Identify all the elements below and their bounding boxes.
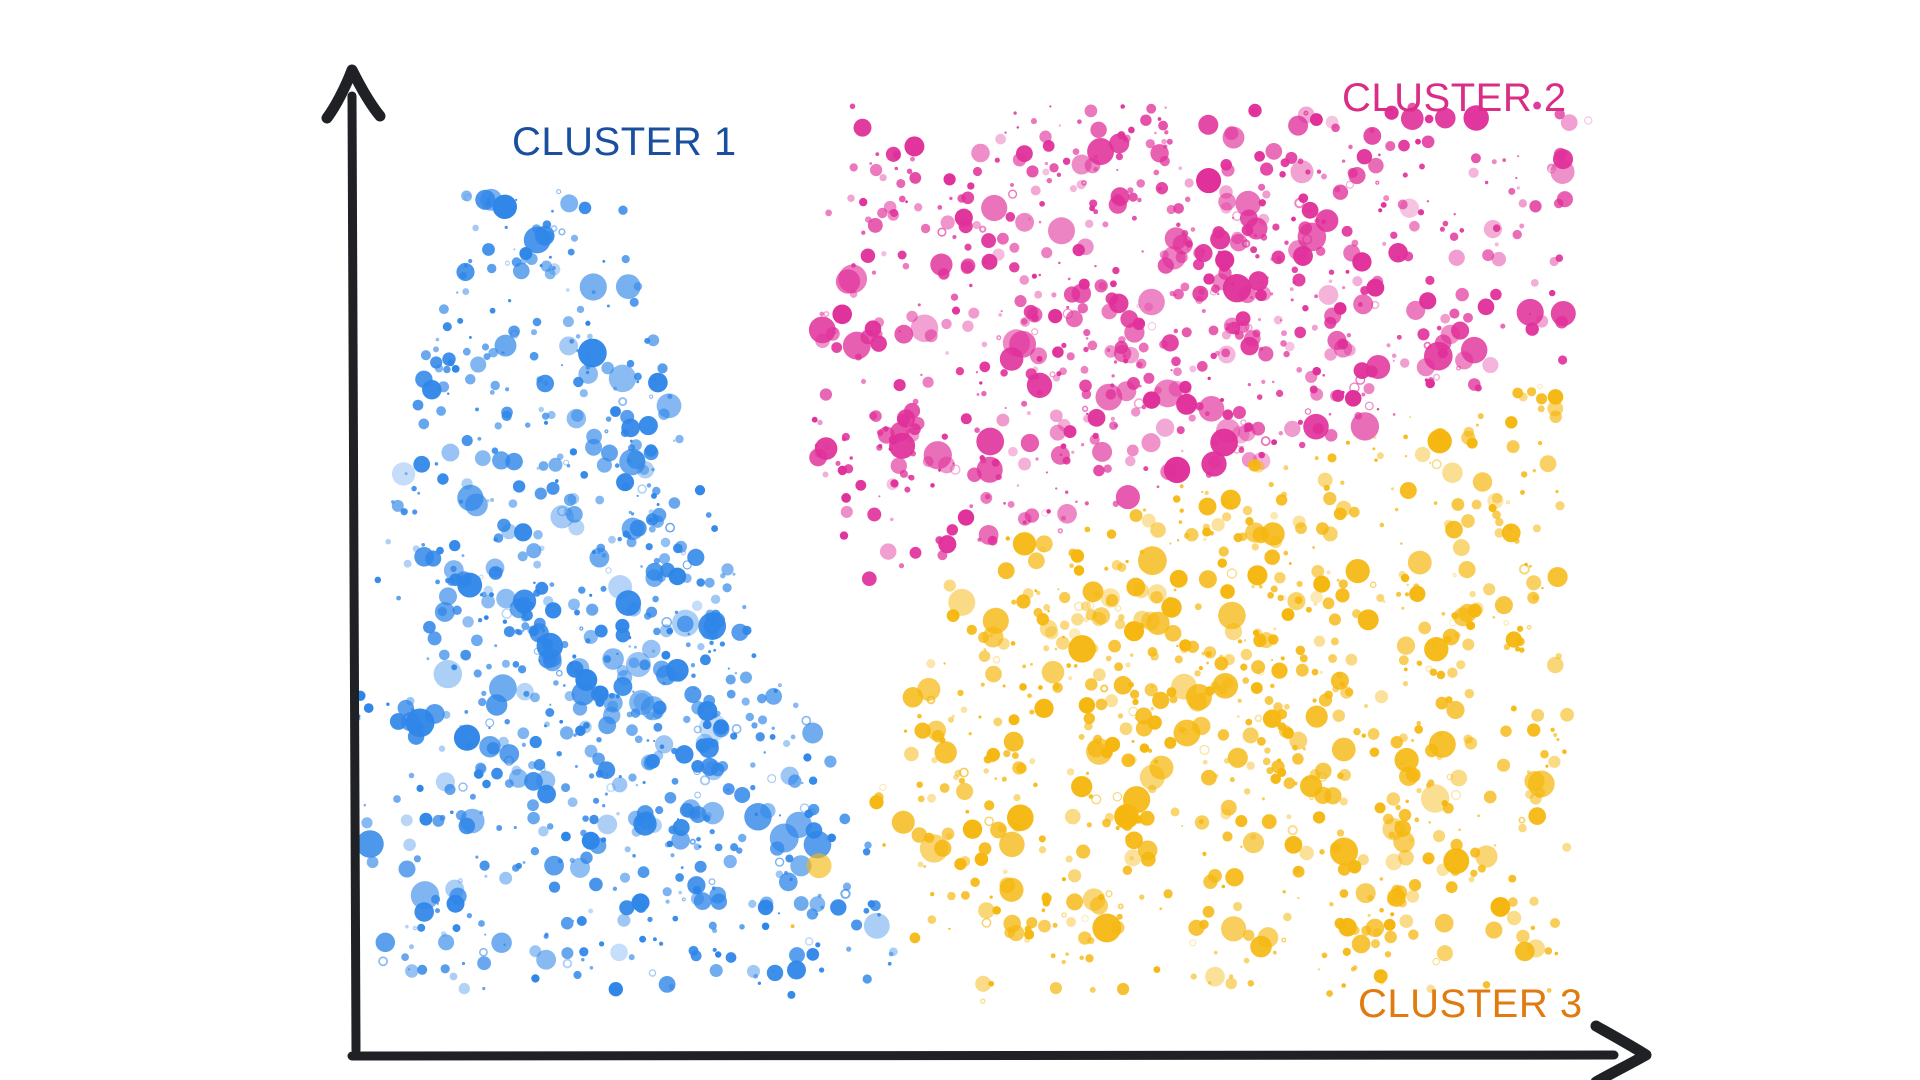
data-point (806, 948, 819, 961)
data-point (847, 194, 854, 201)
data-point (738, 834, 746, 842)
data-point (564, 494, 576, 506)
data-point (969, 732, 972, 735)
data-point (1124, 355, 1126, 357)
data-point (1361, 393, 1365, 397)
data-point (923, 865, 926, 868)
data-point (1470, 848, 1480, 858)
data-point (1375, 802, 1386, 813)
data-point (1547, 657, 1563, 673)
data-point (1179, 520, 1183, 524)
data-point (1250, 936, 1272, 958)
data-point (1219, 546, 1229, 556)
data-point (1399, 655, 1409, 665)
data-point (1214, 951, 1218, 955)
data-point (712, 886, 716, 890)
data-point (1108, 640, 1121, 653)
data-point-artifact (982, 919, 990, 927)
cluster-2-label: CLUSTER 2 (1342, 78, 1567, 118)
data-point (1515, 177, 1517, 179)
data-point-artifact (1365, 402, 1373, 410)
data-point (1240, 846, 1242, 848)
data-point (728, 668, 730, 670)
data-point (1280, 340, 1287, 347)
data-point (538, 407, 544, 413)
data-point (479, 811, 483, 815)
data-point (1001, 310, 1003, 312)
data-point (969, 504, 973, 508)
data-point (1391, 885, 1402, 896)
data-point (696, 837, 701, 842)
data-point (478, 920, 485, 927)
data-point (809, 776, 817, 784)
data-point (568, 249, 575, 256)
data-point (530, 736, 542, 748)
data-point (522, 743, 526, 747)
data-point (1023, 520, 1027, 524)
data-point (1381, 202, 1387, 208)
data-point (1035, 457, 1038, 460)
data-point (543, 380, 548, 385)
data-point (1109, 421, 1118, 430)
data-point (916, 781, 922, 787)
data-point (1195, 815, 1209, 829)
data-point (412, 509, 417, 514)
data-point (549, 881, 560, 892)
data-point (756, 732, 765, 741)
data-point (1217, 293, 1220, 296)
data-point (1209, 531, 1214, 536)
data-point (1023, 588, 1034, 599)
data-point-artifact (650, 395, 653, 398)
data-point (1519, 199, 1527, 207)
data-point (597, 458, 612, 473)
data-point (417, 492, 420, 495)
data-point (967, 182, 974, 189)
data-point (1238, 699, 1242, 703)
data-point-artifact (1119, 904, 1123, 908)
data-point (1409, 416, 1411, 418)
data-point (1093, 167, 1098, 172)
data-point (985, 666, 1002, 683)
data-point-artifact (1058, 529, 1062, 533)
x-axis-line (352, 1055, 1614, 1057)
data-point (1331, 638, 1339, 646)
data-point-artifact (557, 670, 562, 675)
data-point (1046, 509, 1051, 514)
data-point (1136, 179, 1145, 188)
data-point (539, 628, 545, 634)
data-point (1009, 714, 1020, 725)
data-point (1079, 956, 1084, 961)
data-point (401, 953, 409, 961)
data-point-artifact (802, 717, 810, 725)
data-point-artifact (1519, 818, 1524, 823)
data-point (608, 536, 616, 544)
data-point (470, 794, 476, 800)
data-point (861, 248, 876, 263)
data-point (1265, 696, 1274, 705)
data-point (1396, 256, 1400, 260)
data-point (454, 725, 480, 751)
data-point (918, 795, 925, 802)
data-point (1461, 337, 1487, 363)
data-point (1089, 205, 1095, 211)
data-point (416, 785, 423, 792)
data-point-artifact (649, 970, 655, 976)
data-point-artifact (768, 775, 776, 783)
data-point (1343, 948, 1351, 956)
data-point (940, 737, 946, 743)
data-point (1027, 411, 1031, 415)
data-point (615, 463, 620, 468)
data-point (859, 198, 867, 206)
data-point (1257, 737, 1266, 746)
data-point (1562, 843, 1571, 852)
data-point (1011, 600, 1016, 605)
data-point (1237, 715, 1240, 718)
data-point (613, 887, 617, 891)
data-point (1236, 311, 1251, 326)
data-point (1170, 369, 1172, 371)
data-point (734, 787, 750, 803)
data-point (654, 558, 660, 564)
data-point (630, 440, 633, 443)
data-point (622, 255, 630, 263)
data-point (1469, 877, 1475, 883)
data-point (875, 152, 879, 156)
data-point (1222, 885, 1226, 889)
data-point (1049, 105, 1051, 107)
data-point (1290, 287, 1294, 291)
data-point (1168, 610, 1175, 617)
data-point (561, 947, 573, 959)
data-point (982, 342, 988, 348)
data-point (1429, 731, 1456, 758)
data-point (1057, 173, 1061, 177)
data-point (1487, 493, 1503, 509)
data-point (940, 783, 950, 793)
data-point (872, 270, 876, 274)
data-point (1517, 186, 1520, 189)
data-point (1093, 465, 1104, 476)
data-point (1259, 585, 1263, 589)
data-point (930, 483, 935, 488)
data-point (639, 416, 658, 435)
data-point (1167, 205, 1176, 214)
data-point (1085, 501, 1089, 505)
data-point (1039, 846, 1046, 853)
data-point (462, 435, 473, 446)
data-point (1022, 665, 1026, 669)
data-point (441, 964, 450, 973)
data-point (1206, 662, 1209, 665)
data-point (760, 896, 774, 910)
data-point (1032, 274, 1037, 279)
data-point (1451, 322, 1469, 340)
data-point (1508, 188, 1515, 195)
data-point (618, 206, 627, 215)
data-point (740, 671, 752, 683)
data-point (481, 595, 495, 609)
data-point (1419, 164, 1425, 170)
data-point (713, 649, 716, 652)
data-point (545, 708, 554, 717)
data-point (711, 525, 718, 532)
data-point (1284, 704, 1290, 710)
data-point (1139, 894, 1144, 899)
data-point (596, 737, 601, 742)
data-point (647, 917, 652, 922)
data-point (713, 719, 728, 734)
data-point (993, 717, 1002, 726)
data-point (1271, 585, 1278, 592)
data-point (981, 391, 986, 396)
data-point (536, 467, 539, 470)
data-point (1160, 156, 1170, 166)
data-point (772, 727, 775, 730)
data-point (1555, 490, 1558, 493)
data-point (1478, 865, 1486, 873)
data-point (1306, 607, 1312, 613)
data-point (1529, 897, 1538, 906)
data-point (1348, 145, 1352, 149)
data-point (781, 767, 799, 785)
data-point (882, 843, 885, 846)
data-point (1059, 367, 1067, 375)
data-point (1090, 987, 1096, 993)
data-point (1476, 424, 1479, 427)
data-point (513, 661, 520, 668)
data-point-artifact (557, 190, 561, 194)
data-point (499, 872, 512, 885)
data-point (616, 473, 634, 491)
data-point (1202, 852, 1206, 856)
data-point (783, 740, 790, 747)
data-point (573, 377, 583, 387)
data-point (561, 917, 574, 930)
data-point (1061, 343, 1066, 348)
data-point (1173, 367, 1182, 376)
data-point (625, 846, 631, 852)
data-point (1262, 797, 1265, 800)
data-point (739, 924, 745, 930)
data-point (1009, 262, 1019, 272)
data-point (917, 714, 922, 719)
data-point (1282, 727, 1294, 739)
data-point (1003, 750, 1010, 757)
data-point (505, 453, 523, 471)
data-point (629, 657, 640, 668)
data-point (533, 318, 542, 327)
data-point (1156, 182, 1168, 194)
data-point (471, 634, 483, 646)
data-point (687, 549, 704, 566)
data-point (535, 487, 547, 499)
data-point (524, 227, 551, 254)
data-point (1263, 758, 1271, 766)
data-point (438, 607, 447, 616)
data-point (909, 475, 915, 481)
data-point (762, 923, 770, 931)
data-point (1219, 655, 1223, 659)
data-point (1312, 546, 1315, 549)
data-point (1182, 327, 1192, 337)
data-point (1102, 221, 1108, 227)
data-point (742, 626, 751, 635)
data-point (1527, 939, 1545, 957)
data-point (1138, 289, 1165, 316)
data-point (505, 226, 508, 229)
data-point (1296, 664, 1309, 677)
data-point (1199, 498, 1217, 516)
data-point (930, 253, 952, 275)
data-point-artifact (666, 523, 674, 531)
data-point (1314, 603, 1317, 606)
data-point (434, 660, 462, 688)
data-point (1346, 270, 1350, 274)
data-point (580, 389, 588, 397)
data-point (978, 902, 995, 919)
data-point (1223, 409, 1234, 420)
data-point (984, 800, 994, 810)
data-point (504, 626, 515, 637)
data-point-artifact (564, 960, 572, 968)
data-point (401, 814, 413, 826)
data-point (1409, 221, 1420, 232)
data-point (555, 479, 559, 483)
data-point (1159, 907, 1162, 910)
data-point (1461, 431, 1475, 445)
data-point (576, 334, 581, 339)
data-point (1500, 725, 1511, 736)
data-point (1492, 159, 1497, 164)
data-point (1266, 767, 1273, 774)
data-point (1372, 447, 1375, 450)
data-point (982, 254, 998, 270)
data-point (475, 407, 479, 411)
data-point (1490, 289, 1502, 301)
data-point (1267, 592, 1274, 599)
data-point (1408, 551, 1432, 575)
data-point (627, 360, 635, 368)
data-point (732, 573, 735, 576)
data-point (533, 561, 541, 569)
data-point (1039, 274, 1041, 276)
data-point (635, 735, 643, 743)
data-point (1330, 842, 1340, 852)
data-point (1416, 788, 1421, 793)
data-point (1141, 433, 1160, 452)
data-point (1180, 509, 1184, 513)
data-point (439, 650, 450, 661)
data-point (1370, 747, 1380, 757)
data-point (758, 982, 761, 985)
data-point (595, 496, 604, 505)
data-point (1218, 346, 1236, 364)
data-point (386, 702, 389, 705)
data-point (1150, 591, 1162, 603)
data-point (1433, 428, 1447, 442)
data-point (547, 823, 554, 830)
data-point (697, 643, 704, 650)
data-point (411, 708, 415, 712)
data-point (1271, 659, 1273, 661)
data-point (632, 690, 634, 692)
data-point (1036, 591, 1040, 595)
data-point (1397, 335, 1402, 340)
data-point (1353, 294, 1373, 314)
data-point (1165, 106, 1167, 108)
data-point (974, 427, 980, 433)
data-point (1283, 351, 1289, 357)
data-point-artifact (980, 227, 985, 232)
data-point (642, 640, 661, 659)
data-point (1086, 772, 1089, 775)
data-point (560, 726, 573, 739)
data-point (772, 970, 774, 972)
data-point (1277, 758, 1281, 762)
data-point (1511, 705, 1517, 711)
data-point (812, 417, 818, 423)
data-point (467, 913, 472, 918)
data-point (1255, 254, 1259, 258)
data-point (691, 760, 704, 773)
data-point (1199, 666, 1203, 670)
data-point (508, 325, 520, 337)
data-point (723, 783, 735, 795)
data-point-artifact (1346, 181, 1353, 188)
data-point (1008, 925, 1024, 941)
data-point (1276, 390, 1283, 397)
data-point (629, 645, 631, 647)
data-point (1328, 654, 1337, 663)
data-point (735, 672, 738, 675)
data-point (1164, 737, 1176, 749)
data-point (1027, 693, 1032, 698)
data-point (976, 428, 1004, 456)
data-point (999, 877, 1015, 893)
data-point (1112, 267, 1119, 274)
data-point (918, 862, 924, 868)
data-point (411, 486, 416, 491)
data-point (978, 715, 981, 718)
data-point (1096, 699, 1108, 711)
data-point (527, 626, 536, 635)
data-point (639, 936, 646, 943)
data-point (1507, 911, 1521, 925)
data-point (495, 422, 502, 429)
data-point (647, 818, 662, 833)
data-point (1193, 247, 1205, 259)
data-point (1416, 660, 1421, 665)
data-point (1383, 814, 1394, 825)
data-point (494, 533, 503, 542)
data-point (1057, 504, 1077, 524)
data-point (1289, 562, 1292, 565)
data-point (1083, 581, 1104, 602)
data-point (1405, 800, 1408, 803)
data-point (1323, 492, 1336, 505)
data-point (447, 578, 455, 586)
data-point (1197, 361, 1208, 372)
data-point (1527, 387, 1536, 396)
data-point (1149, 756, 1173, 780)
data-point (855, 480, 866, 491)
data-point (577, 306, 584, 313)
data-point (1529, 565, 1532, 568)
data-point (992, 906, 1001, 915)
